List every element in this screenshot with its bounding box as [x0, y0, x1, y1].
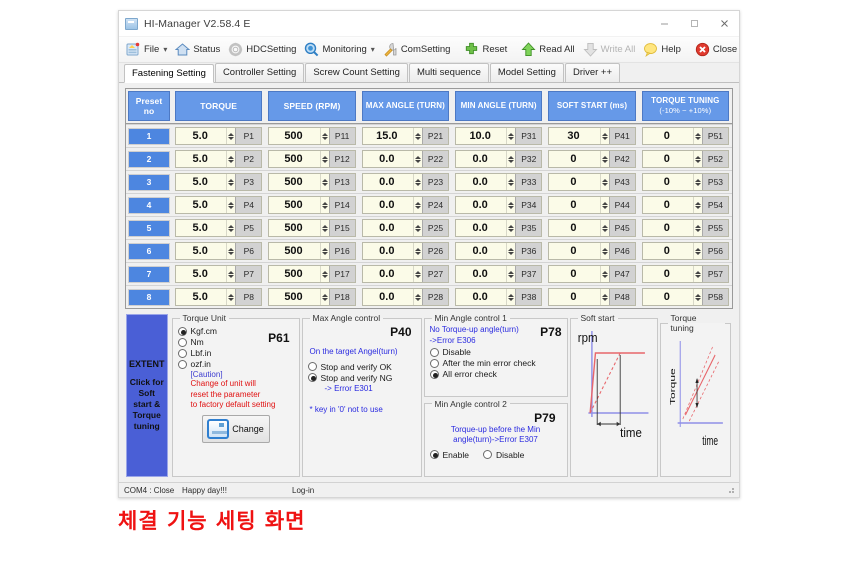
spinner-arrows[interactable] — [693, 220, 702, 236]
spinner-torque-2[interactable]: 5.0 P2 — [175, 150, 262, 168]
spinner-arrows[interactable] — [320, 289, 329, 305]
spinner-arrows[interactable] — [320, 243, 329, 259]
tab-controller-setting[interactable]: Controller Setting — [215, 63, 304, 82]
spinner-value: 0.0 — [456, 151, 506, 167]
toolbar-status-label: Status — [193, 44, 220, 55]
soft-start-chart: rpm time — [576, 325, 652, 443]
torque-tuning-xlabel-text: time — [702, 434, 718, 448]
cell-min-angle: 0.0 P38 — [452, 286, 545, 308]
radio-nm[interactable]: Nm — [178, 337, 269, 347]
resize-grip-icon[interactable] — [726, 485, 736, 495]
spinner-arrows[interactable] — [413, 151, 422, 167]
spinner-value: 0.0 — [456, 197, 506, 213]
min-angle-1-param-code: P78 — [540, 325, 561, 339]
spinner-arrows[interactable] — [693, 266, 702, 282]
cell-max-angle: 0.0 P23 — [359, 171, 452, 193]
radio-min1-all-error-check[interactable]: All error check — [430, 369, 562, 379]
spinner-arrows[interactable] — [600, 197, 609, 213]
home-icon — [175, 42, 190, 57]
spinner-arrows[interactable] — [506, 266, 515, 282]
spinner-torque-tuning-1[interactable]: 0 P51 — [642, 127, 729, 145]
caution-line-2: reset the parameter — [191, 390, 294, 401]
table-row: 4 5.0 P4 500 P14 0.0 P24 0.0 — [126, 193, 732, 216]
spinner-arrows[interactable] — [506, 128, 515, 144]
toolbar-file-button[interactable]: File ▾ — [122, 39, 171, 61]
radio-kgfcm[interactable]: Kgf.cm — [178, 326, 269, 336]
spinner-arrows[interactable] — [600, 174, 609, 190]
spinner-arrows[interactable] — [506, 243, 515, 259]
spinner-soft-start-1[interactable]: 30 P41 — [548, 127, 635, 145]
spinner-soft-start-2[interactable]: 0 P42 — [548, 150, 635, 168]
spinner-speed-1[interactable]: 500 P11 — [268, 127, 355, 145]
close-circle-icon — [695, 42, 710, 57]
preset-button-2[interactable]: 2 — [128, 151, 170, 168]
spinner-value: 5.0 — [176, 220, 226, 236]
cell-torque-tuning: 0 P53 — [639, 171, 732, 193]
param-code: P46 — [609, 243, 635, 259]
toolbar-readall-label: Read All — [539, 44, 574, 55]
preset-button-5[interactable]: 5 — [128, 220, 170, 237]
extent-line5: tuning — [134, 421, 160, 432]
spinner-max-angle-2[interactable]: 0.0 P22 — [362, 150, 449, 168]
cell-min-angle: 10.0 P31 — [452, 125, 545, 147]
param-code: P4 — [235, 197, 261, 213]
max-angle-param-code: P40 — [308, 325, 416, 339]
preset-parameter-grid: Preset no TORQUE SPEED (RPM) MAX ANGLE (… — [125, 88, 733, 309]
extent-button[interactable]: EXTENT Click for Soft start & Torque tun… — [126, 314, 168, 477]
cell-speed: 500 P18 — [265, 286, 358, 308]
spinner-value: 500 — [269, 151, 319, 167]
spinner-torque-tuning-8[interactable]: 0 P58 — [642, 288, 729, 306]
spinner-arrows[interactable] — [506, 151, 515, 167]
maximize-icon[interactable] — [679, 11, 709, 36]
radio-min1-disable[interactable]: Disable — [430, 347, 562, 357]
header-min-angle-label: MIN ANGLE (TURN) — [461, 101, 537, 111]
spinner-speed-7[interactable]: 500 P17 — [268, 265, 355, 283]
spinner-torque-tuning-5[interactable]: 0 P55 — [642, 219, 729, 237]
cell-max-angle: 0.0 P28 — [359, 286, 452, 308]
radio-ozfin[interactable]: ozf.in — [178, 359, 269, 369]
param-code: P12 — [329, 151, 355, 167]
cell-min-angle: 0.0 P34 — [452, 194, 545, 216]
cell-torque-tuning: 0 P58 — [639, 286, 732, 308]
toolbar-close-label: Close — [713, 44, 737, 55]
spinner-arrows[interactable] — [506, 174, 515, 190]
preset-cell: 4 — [126, 194, 172, 216]
cell-torque-tuning: 0 P55 — [639, 217, 732, 239]
toolbar-status-button[interactable]: Status — [171, 39, 224, 61]
spinner-arrows[interactable] — [226, 151, 235, 167]
cell-soft-start: 0 P42 — [545, 148, 638, 170]
spinner-soft-start-6[interactable]: 0 P46 — [548, 242, 635, 260]
cell-soft-start: 0 P47 — [545, 263, 638, 285]
spinner-arrows[interactable] — [226, 266, 235, 282]
spinner-max-angle-7[interactable]: 0.0 P27 — [362, 265, 449, 283]
change-button[interactable]: Change — [202, 415, 270, 443]
param-code: P25 — [422, 220, 448, 236]
spinner-arrows[interactable] — [320, 151, 329, 167]
radio-indicator — [430, 359, 439, 368]
spinner-value: 0 — [643, 266, 693, 282]
spinner-arrows[interactable] — [413, 266, 422, 282]
spinner-value: 0 — [643, 151, 693, 167]
spinner-value: 0 — [643, 174, 693, 190]
cell-max-angle: 0.0 P27 — [359, 263, 452, 285]
settings-panels: EXTENT Click for Soft start & Torque tun… — [125, 313, 733, 482]
preset-cell: 7 — [126, 263, 172, 285]
spinner-min-angle-2[interactable]: 0.0 P32 — [455, 150, 542, 168]
spinner-torque-tuning-4[interactable]: 0 P54 — [642, 196, 729, 214]
cell-soft-start: 0 P48 — [545, 286, 638, 308]
preset-button-1[interactable]: 1 — [128, 128, 170, 145]
radio-indicator — [430, 348, 439, 357]
spinner-value: 0 — [549, 220, 599, 236]
spinner-max-angle-6[interactable]: 0.0 P26 — [362, 242, 449, 260]
param-code: P32 — [515, 151, 541, 167]
spinner-value: 0.0 — [363, 243, 413, 259]
param-code: P43 — [609, 174, 635, 190]
spinner-value: 0 — [643, 220, 693, 236]
extent-line3: start & — [133, 399, 160, 410]
spinner-speed-4[interactable]: 500 P14 — [268, 196, 355, 214]
toolbar-help-button[interactable]: Help — [639, 39, 685, 61]
toolbar-readall-button[interactable]: Read All — [517, 39, 578, 61]
tab-multi-sequence[interactable]: Multi sequence — [409, 63, 489, 82]
header-torque-label: TORQUE — [200, 101, 237, 111]
spinner-arrows[interactable] — [413, 289, 422, 305]
spinner-arrows[interactable] — [600, 266, 609, 282]
plus-icon — [464, 42, 479, 57]
min-angle-2-note-line2: angle(turn)->Error E307 — [430, 435, 562, 446]
param-code: P54 — [702, 197, 728, 213]
radio-indicator — [308, 362, 317, 371]
cell-soft-start: 0 P46 — [545, 240, 638, 262]
torque-unit-group: Torque Unit Kgf.cm Nm — [172, 313, 300, 477]
spinner-torque-tuning-3[interactable]: 0 P53 — [642, 173, 729, 191]
spinner-soft-start-4[interactable]: 0 P44 — [548, 196, 635, 214]
min-angle-2-note-line1: Torque-up before the Min — [430, 425, 562, 436]
spinner-torque-6[interactable]: 5.0 P6 — [175, 242, 262, 260]
spinner-min-angle-6[interactable]: 0.0 P36 — [455, 242, 542, 260]
param-code: P2 — [235, 151, 261, 167]
spinner-soft-start-5[interactable]: 0 P45 — [548, 219, 635, 237]
table-row: 6 5.0 P6 500 P16 0.0 P26 0.0 — [126, 239, 732, 262]
max-angle-legend: Max Angle control — [310, 313, 384, 323]
cell-min-angle: 0.0 P36 — [452, 240, 545, 262]
spinner-speed-6[interactable]: 500 P16 — [268, 242, 355, 260]
torque-tuning-chart-group: Torque tuning Torque time — [660, 313, 731, 477]
spinner-arrows[interactable] — [693, 174, 702, 190]
param-code: P52 — [702, 151, 728, 167]
status-message: Happy day!!! — [182, 486, 292, 495]
cell-torque: 5.0 P2 — [172, 148, 265, 170]
spinner-torque-tuning-2[interactable]: 0 P52 — [642, 150, 729, 168]
toolbar-reset-label: Reset — [482, 44, 507, 55]
extent-line4: Torque — [133, 410, 161, 421]
spinner-arrows[interactable] — [320, 128, 329, 144]
toolbar-close-button[interactable]: Close — [691, 39, 741, 61]
spinner-value: 0 — [643, 128, 693, 144]
spinner-min-angle-8[interactable]: 0.0 P38 — [455, 288, 542, 306]
minimize-icon[interactable] — [649, 11, 679, 36]
spinner-value: 5.0 — [176, 197, 226, 213]
spinner-arrows[interactable] — [320, 174, 329, 190]
preset-cell: 8 — [126, 286, 172, 308]
param-code: P41 — [609, 128, 635, 144]
extent-line2: Soft — [138, 388, 155, 399]
spinner-torque-tuning-7[interactable]: 0 P57 — [642, 265, 729, 283]
spinner-soft-start-8[interactable]: 0 P48 — [548, 288, 635, 306]
chevron-down-icon[interactable]: ▾ — [163, 45, 167, 54]
param-code: P27 — [422, 266, 448, 282]
spinner-min-angle-7[interactable]: 0.0 P37 — [455, 265, 542, 283]
spinner-arrows[interactable] — [693, 197, 702, 213]
caution-line-3: to factory default setting — [191, 400, 294, 411]
param-code: P42 — [609, 151, 635, 167]
header-torque-tuning-label: TORQUE TUNING — [651, 96, 719, 106]
header-cell-soft-start: SOFT START (ms) — [545, 89, 638, 123]
torque-unit-param-code: P61 — [268, 325, 293, 370]
radio-min1-after-min-error-check[interactable]: After the min error check — [430, 358, 562, 368]
param-code: P56 — [702, 243, 728, 259]
torque-tuning-chart: Torque time — [666, 335, 725, 453]
spinner-speed-5[interactable]: 500 P15 — [268, 219, 355, 237]
cell-speed: 500 P11 — [265, 125, 358, 147]
spinner-arrows[interactable] — [506, 197, 515, 213]
spinner-value: 0.0 — [363, 151, 413, 167]
header-cell-speed: SPEED (RPM) — [265, 89, 358, 123]
spinner-max-angle-4[interactable]: 0.0 P24 — [362, 196, 449, 214]
toolbar-monitoring-button[interactable]: Monitoring ▾ — [300, 39, 378, 61]
toolbar-reset-button[interactable]: Reset — [460, 39, 511, 61]
spinner-value: 0 — [643, 243, 693, 259]
spinner-arrows[interactable] — [226, 220, 235, 236]
cell-torque: 5.0 P7 — [172, 263, 265, 285]
table-row: 2 5.0 P2 500 P12 0.0 P22 0.0 — [126, 147, 732, 170]
spinner-arrows[interactable] — [320, 266, 329, 282]
caution-line-1: Change of unit will — [191, 379, 294, 390]
radio-label: Disable — [496, 450, 524, 460]
spinner-arrows[interactable] — [600, 220, 609, 236]
grid-header-row: Preset no TORQUE SPEED (RPM) MAX ANGLE (… — [126, 89, 732, 124]
spinner-arrows[interactable] — [600, 243, 609, 259]
cell-soft-start: 0 P43 — [545, 171, 638, 193]
spinner-torque-1[interactable]: 5.0 P1 — [175, 127, 262, 145]
radio-stop-verify-ok[interactable]: Stop and verify OK — [308, 362, 416, 372]
soft-start-xlabel-text: time — [620, 425, 642, 440]
spinner-arrows[interactable] — [413, 243, 422, 259]
radio-label: ozf.in — [191, 359, 211, 369]
header-cell-min-angle: MIN ANGLE (TURN) — [452, 89, 545, 123]
header-cell-preset: Preset no — [126, 89, 172, 123]
spinner-min-angle-4[interactable]: 0.0 P34 — [455, 196, 542, 214]
header-max-angle-label: MAX ANGLE (TURN) — [366, 101, 445, 111]
param-code: P31 — [515, 128, 541, 144]
radio-lbfin[interactable]: Lbf.in — [178, 348, 269, 358]
cell-speed: 500 P17 — [265, 263, 358, 285]
spinner-torque-7[interactable]: 5.0 P7 — [175, 265, 262, 283]
client-area: Preset no TORQUE SPEED (RPM) MAX ANGLE (… — [119, 83, 739, 482]
spinner-value: 10.0 — [456, 128, 506, 144]
preset-button-7[interactable]: 7 — [128, 266, 170, 283]
preset-button-3[interactable]: 3 — [128, 174, 170, 191]
window-controls — [649, 11, 739, 36]
spinner-arrows[interactable] — [413, 128, 422, 144]
spinner-torque-tuning-6[interactable]: 0 P56 — [642, 242, 729, 260]
spinner-arrows[interactable] — [693, 289, 702, 305]
toolbar-comsetting-button[interactable]: ComSetting — [379, 39, 455, 61]
radio-min2-disable[interactable]: Disable — [483, 450, 524, 460]
cell-soft-start: 30 P41 — [545, 125, 638, 147]
radio-min2-enable[interactable]: Enable — [430, 450, 469, 460]
spinner-value: 500 — [269, 197, 319, 213]
max-angle-heading: On the target Angel(turn) — [310, 347, 416, 358]
spinner-min-angle-1[interactable]: 10.0 P31 — [455, 127, 542, 145]
param-code: P53 — [702, 174, 728, 190]
spinner-arrows[interactable] — [226, 174, 235, 190]
hi-manager-window: HI-Manager V2.58.4 E — [118, 10, 740, 498]
param-code: P37 — [515, 266, 541, 282]
tab-fastening-setting[interactable]: Fastening Setting — [124, 64, 214, 83]
cell-min-angle: 0.0 P37 — [452, 263, 545, 285]
spinner-value: 0.0 — [363, 266, 413, 282]
spinner-arrows[interactable] — [506, 289, 515, 305]
cell-max-angle: 15.0 P21 — [359, 125, 452, 147]
soft-start-chart-group: Soft start rpm — [570, 313, 658, 477]
chevron-down-icon-monitoring[interactable]: ▾ — [371, 45, 375, 54]
param-code: P58 — [702, 289, 728, 305]
radio-label: Stop and verify OK — [321, 362, 392, 372]
radio-indicator — [178, 338, 187, 347]
spinner-soft-start-7[interactable]: 0 P47 — [548, 265, 635, 283]
arrow-up-icon — [521, 42, 536, 57]
spinner-value: 5.0 — [176, 151, 226, 167]
spinner-torque-8[interactable]: 5.0 P8 — [175, 288, 262, 306]
param-code: P11 — [329, 128, 355, 144]
radio-label: Kgf.cm — [191, 326, 217, 336]
spinner-value: 5.0 — [176, 289, 226, 305]
spinner-arrows[interactable] — [693, 128, 702, 144]
param-code: P5 — [235, 220, 261, 236]
spinner-arrows[interactable] — [226, 243, 235, 259]
toolbar-monitoring-label: Monitoring — [322, 44, 366, 55]
radio-indicator — [178, 349, 187, 358]
spinner-soft-start-3[interactable]: 0 P43 — [548, 173, 635, 191]
spinner-value: 500 — [269, 266, 319, 282]
close-icon[interactable] — [709, 11, 739, 36]
screenshot-page: HI-Manager V2.58.4 E — [0, 0, 860, 565]
spinner-value: 0.0 — [456, 243, 506, 259]
cell-speed: 500 P14 — [265, 194, 358, 216]
radio-label: All error check — [443, 369, 497, 379]
min-angle-2-legend: Min Angle control 2 — [432, 399, 510, 409]
param-code: P44 — [609, 197, 635, 213]
toolbar-writeall-button[interactable]: Write All — [579, 39, 640, 61]
gear-icon — [228, 42, 243, 57]
cell-soft-start: 0 P45 — [545, 217, 638, 239]
preset-button-8[interactable]: 8 — [128, 289, 170, 306]
param-code: P28 — [422, 289, 448, 305]
caution-title: [Caution] — [191, 370, 294, 379]
radio-stop-verify-ng[interactable]: Stop and verify NG — [308, 373, 416, 383]
spinner-value: 0.0 — [363, 220, 413, 236]
spinner-arrows[interactable] — [600, 128, 609, 144]
tab-screw-count-setting[interactable]: Screw Count Setting — [305, 63, 408, 82]
spinner-arrows[interactable] — [506, 220, 515, 236]
spinner-value: 0 — [643, 197, 693, 213]
spinner-arrows[interactable] — [226, 197, 235, 213]
spinner-torque-4[interactable]: 5.0 P4 — [175, 196, 262, 214]
preset-button-6[interactable]: 6 — [128, 243, 170, 260]
table-row: 1 5.0 P1 500 P11 15.0 P21 — [126, 124, 732, 147]
cell-torque-tuning: 0 P56 — [639, 240, 732, 262]
spinner-speed-3[interactable]: 500 P13 — [268, 173, 355, 191]
preset-cell: 2 — [126, 148, 172, 170]
param-code: P22 — [422, 151, 448, 167]
spinner-arrows[interactable] — [413, 174, 422, 190]
tab-model-setting[interactable]: Model Setting — [490, 63, 564, 82]
spinner-arrows[interactable] — [320, 220, 329, 236]
spinner-torque-5[interactable]: 5.0 P5 — [175, 219, 262, 237]
radio-indicator — [178, 327, 187, 336]
preset-button-4[interactable]: 4 — [128, 197, 170, 214]
spinner-max-angle-1[interactable]: 15.0 P21 — [362, 127, 449, 145]
spinner-value: 0.0 — [456, 266, 506, 282]
min-angle-1-legend: Min Angle control 1 — [432, 313, 510, 323]
extent-line1: Click for — [130, 377, 164, 388]
spinner-arrows[interactable] — [226, 128, 235, 144]
spinner-arrows[interactable] — [413, 220, 422, 236]
spinner-value: 0.0 — [456, 174, 506, 190]
spinner-arrows[interactable] — [413, 197, 422, 213]
radio-label: Stop and verify NG — [321, 373, 393, 383]
spinner-arrows[interactable] — [226, 289, 235, 305]
spinner-arrows[interactable] — [600, 151, 609, 167]
spinner-value: 500 — [269, 243, 319, 259]
spinner-arrows[interactable] — [693, 243, 702, 259]
spinner-max-angle-5[interactable]: 0.0 P25 — [362, 219, 449, 237]
spinner-value: 500 — [269, 220, 319, 236]
spinner-arrows[interactable] — [693, 151, 702, 167]
spinner-arrows[interactable] — [320, 197, 329, 213]
param-code: P26 — [422, 243, 448, 259]
radio-indicator — [483, 450, 492, 459]
param-code: P15 — [329, 220, 355, 236]
spinner-value: 0 — [549, 266, 599, 282]
spinner-speed-2[interactable]: 500 P12 — [268, 150, 355, 168]
param-code: P33 — [515, 174, 541, 190]
arrow-down-icon — [583, 42, 598, 57]
tab-driver-plus[interactable]: Driver ++ — [565, 63, 620, 82]
spinner-speed-8[interactable]: 500 P18 — [268, 288, 355, 306]
spinner-max-angle-8[interactable]: 0.0 P28 — [362, 288, 449, 306]
torque-tuning-legend: Torque tuning — [668, 313, 725, 333]
toolbar-hdcsetting-button[interactable]: HDCSetting — [224, 39, 300, 61]
spinner-min-angle-3[interactable]: 0.0 P33 — [455, 173, 542, 191]
param-code: P8 — [235, 289, 261, 305]
cell-torque-tuning: 0 P52 — [639, 148, 732, 170]
cell-max-angle: 0.0 P24 — [359, 194, 452, 216]
spinner-torque-3[interactable]: 5.0 P3 — [175, 173, 262, 191]
spinner-max-angle-3[interactable]: 0.0 P23 — [362, 173, 449, 191]
toolbar-hdcsetting-label: HDCSetting — [246, 44, 296, 55]
spinner-arrows[interactable] — [600, 289, 609, 305]
header-speed-label: SPEED (RPM) — [284, 101, 341, 111]
min-angle-controls-wrapper: Min Angle control 1 No Torque-up angle(t… — [424, 313, 568, 477]
spinner-min-angle-5[interactable]: 0.0 P35 — [455, 219, 542, 237]
spinner-value: 0.0 — [363, 289, 413, 305]
min-angle-control-2-group: Min Angle control 2 P79 Torque-up before… — [424, 399, 568, 478]
